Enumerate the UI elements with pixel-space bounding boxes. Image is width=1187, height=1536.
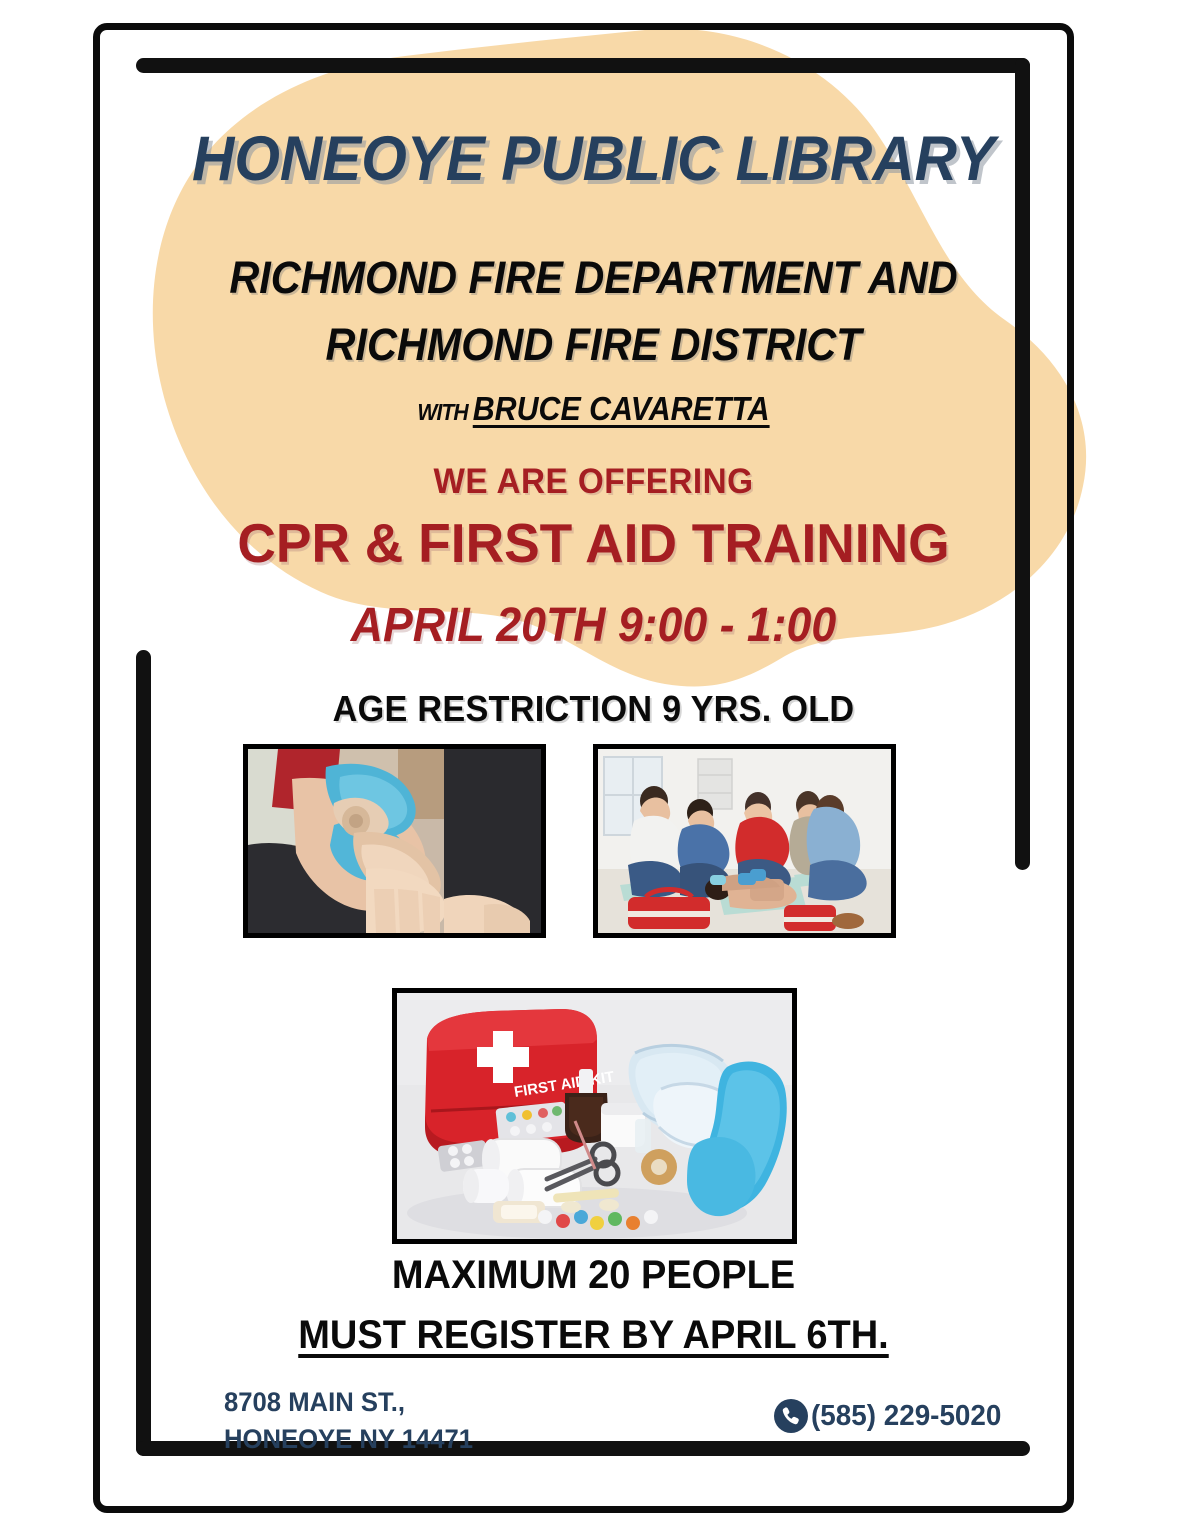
phone-contact[interactable]: (585) 229-5020 (772, 1397, 1009, 1435)
event-datetime: APRIL 20TH 9:00 - 1:00 (42, 598, 1146, 653)
max-people-note: MAXIMUM 20 PEOPLE (30, 1253, 1158, 1298)
phone-icon (772, 1397, 810, 1435)
first-aid-kit-photo-graphic: FIRST AID KIT (397, 993, 792, 1239)
bandage-photo-graphic (248, 749, 541, 933)
cpr-class-photo-graphic (598, 749, 891, 933)
instructor-line: WITH BRUCE CAVARETTA (47, 390, 1139, 428)
address-line-2: HONEOYE NY 14471 (224, 1421, 623, 1458)
address-line-1: 8708 MAIN ST., (224, 1384, 623, 1421)
organization-line-2: RICHMOND FIRE DISTRICT (47, 322, 1139, 367)
cpr-class-photo (593, 744, 896, 938)
poster-title: HONEOYE PUBLIC LIBRARY (42, 128, 1146, 191)
offering-label: WE ARE OFFERING (30, 462, 1158, 502)
phone-number: (585) 229-5020 (811, 1400, 1001, 1433)
instructor-name: BRUCE CAVARETTA (473, 390, 770, 427)
with-word: WITH (417, 399, 472, 425)
age-restriction-note: AGE RESTRICTION 9 YRS. OLD (30, 688, 1158, 730)
first-aid-kit-photo: FIRST AID KIT (392, 988, 797, 1244)
main-heading: CPR & FIRST AID TRAINING (18, 511, 1169, 575)
library-address: 8708 MAIN ST., HONEOYE NY 14471 (224, 1384, 623, 1459)
register-by-note: MUST REGISTER BY APRIL 6TH. (30, 1313, 1158, 1358)
organization-line-1: RICHMOND FIRE DEPARTMENT AND (47, 255, 1139, 300)
bandage-photo (243, 744, 546, 938)
